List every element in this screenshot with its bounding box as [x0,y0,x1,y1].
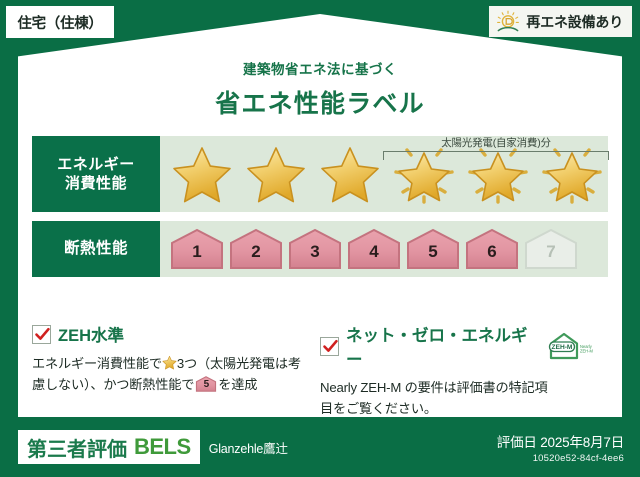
insulation-badge-number: 4 [347,228,401,270]
net-zero-energy-checkbox[interactable] [320,337,339,356]
energy-label-line1: エネルギー [57,155,135,174]
zeh-desc-part2: 3つ（太陽光発電 [177,356,275,371]
insulation-performance-body: 1 2 3 4 5 [160,221,608,277]
insulation-badge: 5 [406,228,460,270]
net-zero-energy-description: Nearly ZEH-M の要件は評価書の特記項 目をご覧ください。 [320,377,594,420]
bels-en-text: BELS [134,434,191,460]
zeh-desc-part1: エネルギー消費性能で [32,356,162,371]
insulation-label-text: 断熱性能 [64,239,128,259]
star-icon [314,142,386,206]
nze-desc-line1: Nearly ZEH-M の要件は評価書の特記項 [320,377,594,398]
energy-label-line2: 消費性能 [65,174,127,193]
insulation-badge: 2 [229,228,283,270]
check-icon [34,326,51,343]
solar-annotation-text: 太陽光発電(自家消費)分 [378,135,614,150]
insulation-performance-row: 断熱性能 1 2 3 [32,221,608,277]
insulation-badge-number: 1 [170,228,224,270]
bels-energy-label: 住宅（住棟） 再エネ設備あり 建築物省エネ法に基づく 省エネ性能ラベル [0,0,640,477]
category-tag-label: 住宅（住棟） [17,12,102,33]
evaluation-date: 評価日 2025年8月7日 [497,431,624,451]
svg-text:ZEH-M: ZEH-M [552,344,573,351]
insulation-badge-number: 5 [406,228,460,270]
bels-jp-text: 第三者評価 [27,433,127,462]
insulation-badge: 1 [170,228,224,270]
insulation-badge-number: 7 [524,228,578,270]
svg-text:ZEH-M: ZEH-M [580,349,594,354]
solar-bracket [383,151,609,160]
star-icon [240,142,312,206]
star-icon [166,142,238,206]
energy-performance-row: エネルギー 消費性能 太陽光発電(自家消費)分 [32,136,608,212]
evaluation-info: 評価日 2025年8月7日 10520e52-84cf-4ee6 [497,431,624,464]
solar-sun-icon [495,10,521,34]
zeh-desc-part4: を達成 [218,377,257,392]
energy-performance-body: 太陽光発電(自家消費)分 [160,136,608,212]
zeh-standard-checkbox[interactable] [32,325,51,344]
insulation-badge-number: 2 [229,228,283,270]
renewable-equipment-badge: 再エネ設備あり [489,6,632,37]
insulation-badge: 6 [465,228,519,270]
criteria-section: ZEH水準 エネルギー消費性能で3つ（太陽光発電は考慮しない）、かつ断熱性能で5… [32,322,608,420]
category-tag: 住宅（住棟） [6,6,114,38]
net-zero-energy-title: ネット・ゼロ・エネルギー [346,322,537,370]
evaluation-id: 10520e52-84cf-4ee6 [497,453,624,464]
title-subtitle: 建築物省エネ法に基づく [0,58,640,78]
criteria-zeh-standard: ZEH水準 エネルギー消費性能で3つ（太陽光発電は考慮しない）、かつ断熱性能で5… [32,322,320,420]
criteria-zeh-header: ZEH水準 [32,322,306,346]
zeh-standard-description: エネルギー消費性能で3つ（太陽光発電は考慮しない）、かつ断熱性能で5を達成 [32,353,306,396]
inline-insulation-badge: 5 [195,376,217,392]
solar-generation-annotation: 太陽光発電(自家消費)分 [378,135,614,160]
insulation-badge: 4 [347,228,401,270]
bels-certification-mark: 第三者評価 BELS [18,430,200,464]
building-name: Glanzehle鷹辻 [209,438,288,457]
insulation-badge-number: 6 [465,228,519,270]
inline-star-icon [162,355,177,370]
insulation-level-badges: 1 2 3 4 5 [160,228,578,270]
performance-rows: エネルギー 消費性能 太陽光発電(自家消費)分 [32,136,608,277]
zeh-m-house-logo: ZEH-M Nearly ZEH-M [548,331,594,361]
zeh-standard-title: ZEH水準 [58,322,124,346]
title-main: 省エネ性能ラベル [0,84,640,120]
insulation-badge: 3 [288,228,342,270]
criteria-nze-header: ネット・ゼロ・エネルギー ZEH-M Nearly ZEH-M [320,322,594,370]
label-footer: 第三者評価 BELS Glanzehle鷹辻 評価日 2025年8月7日 105… [0,417,640,477]
insulation-badge-inactive: 7 [524,228,578,270]
inline-badge-number: 5 [195,376,217,392]
renewable-badge-label: 再エネ設備あり [526,12,623,32]
label-title-block: 建築物省エネ法に基づく 省エネ性能ラベル [0,58,640,120]
insulation-badge-number: 3 [288,228,342,270]
energy-performance-label: エネルギー 消費性能 [32,136,160,212]
check-icon [322,338,339,355]
criteria-net-zero-energy: ネット・ゼロ・エネルギー ZEH-M Nearly ZEH-M Nearly Z… [320,322,608,420]
insulation-performance-label: 断熱性能 [32,221,160,277]
